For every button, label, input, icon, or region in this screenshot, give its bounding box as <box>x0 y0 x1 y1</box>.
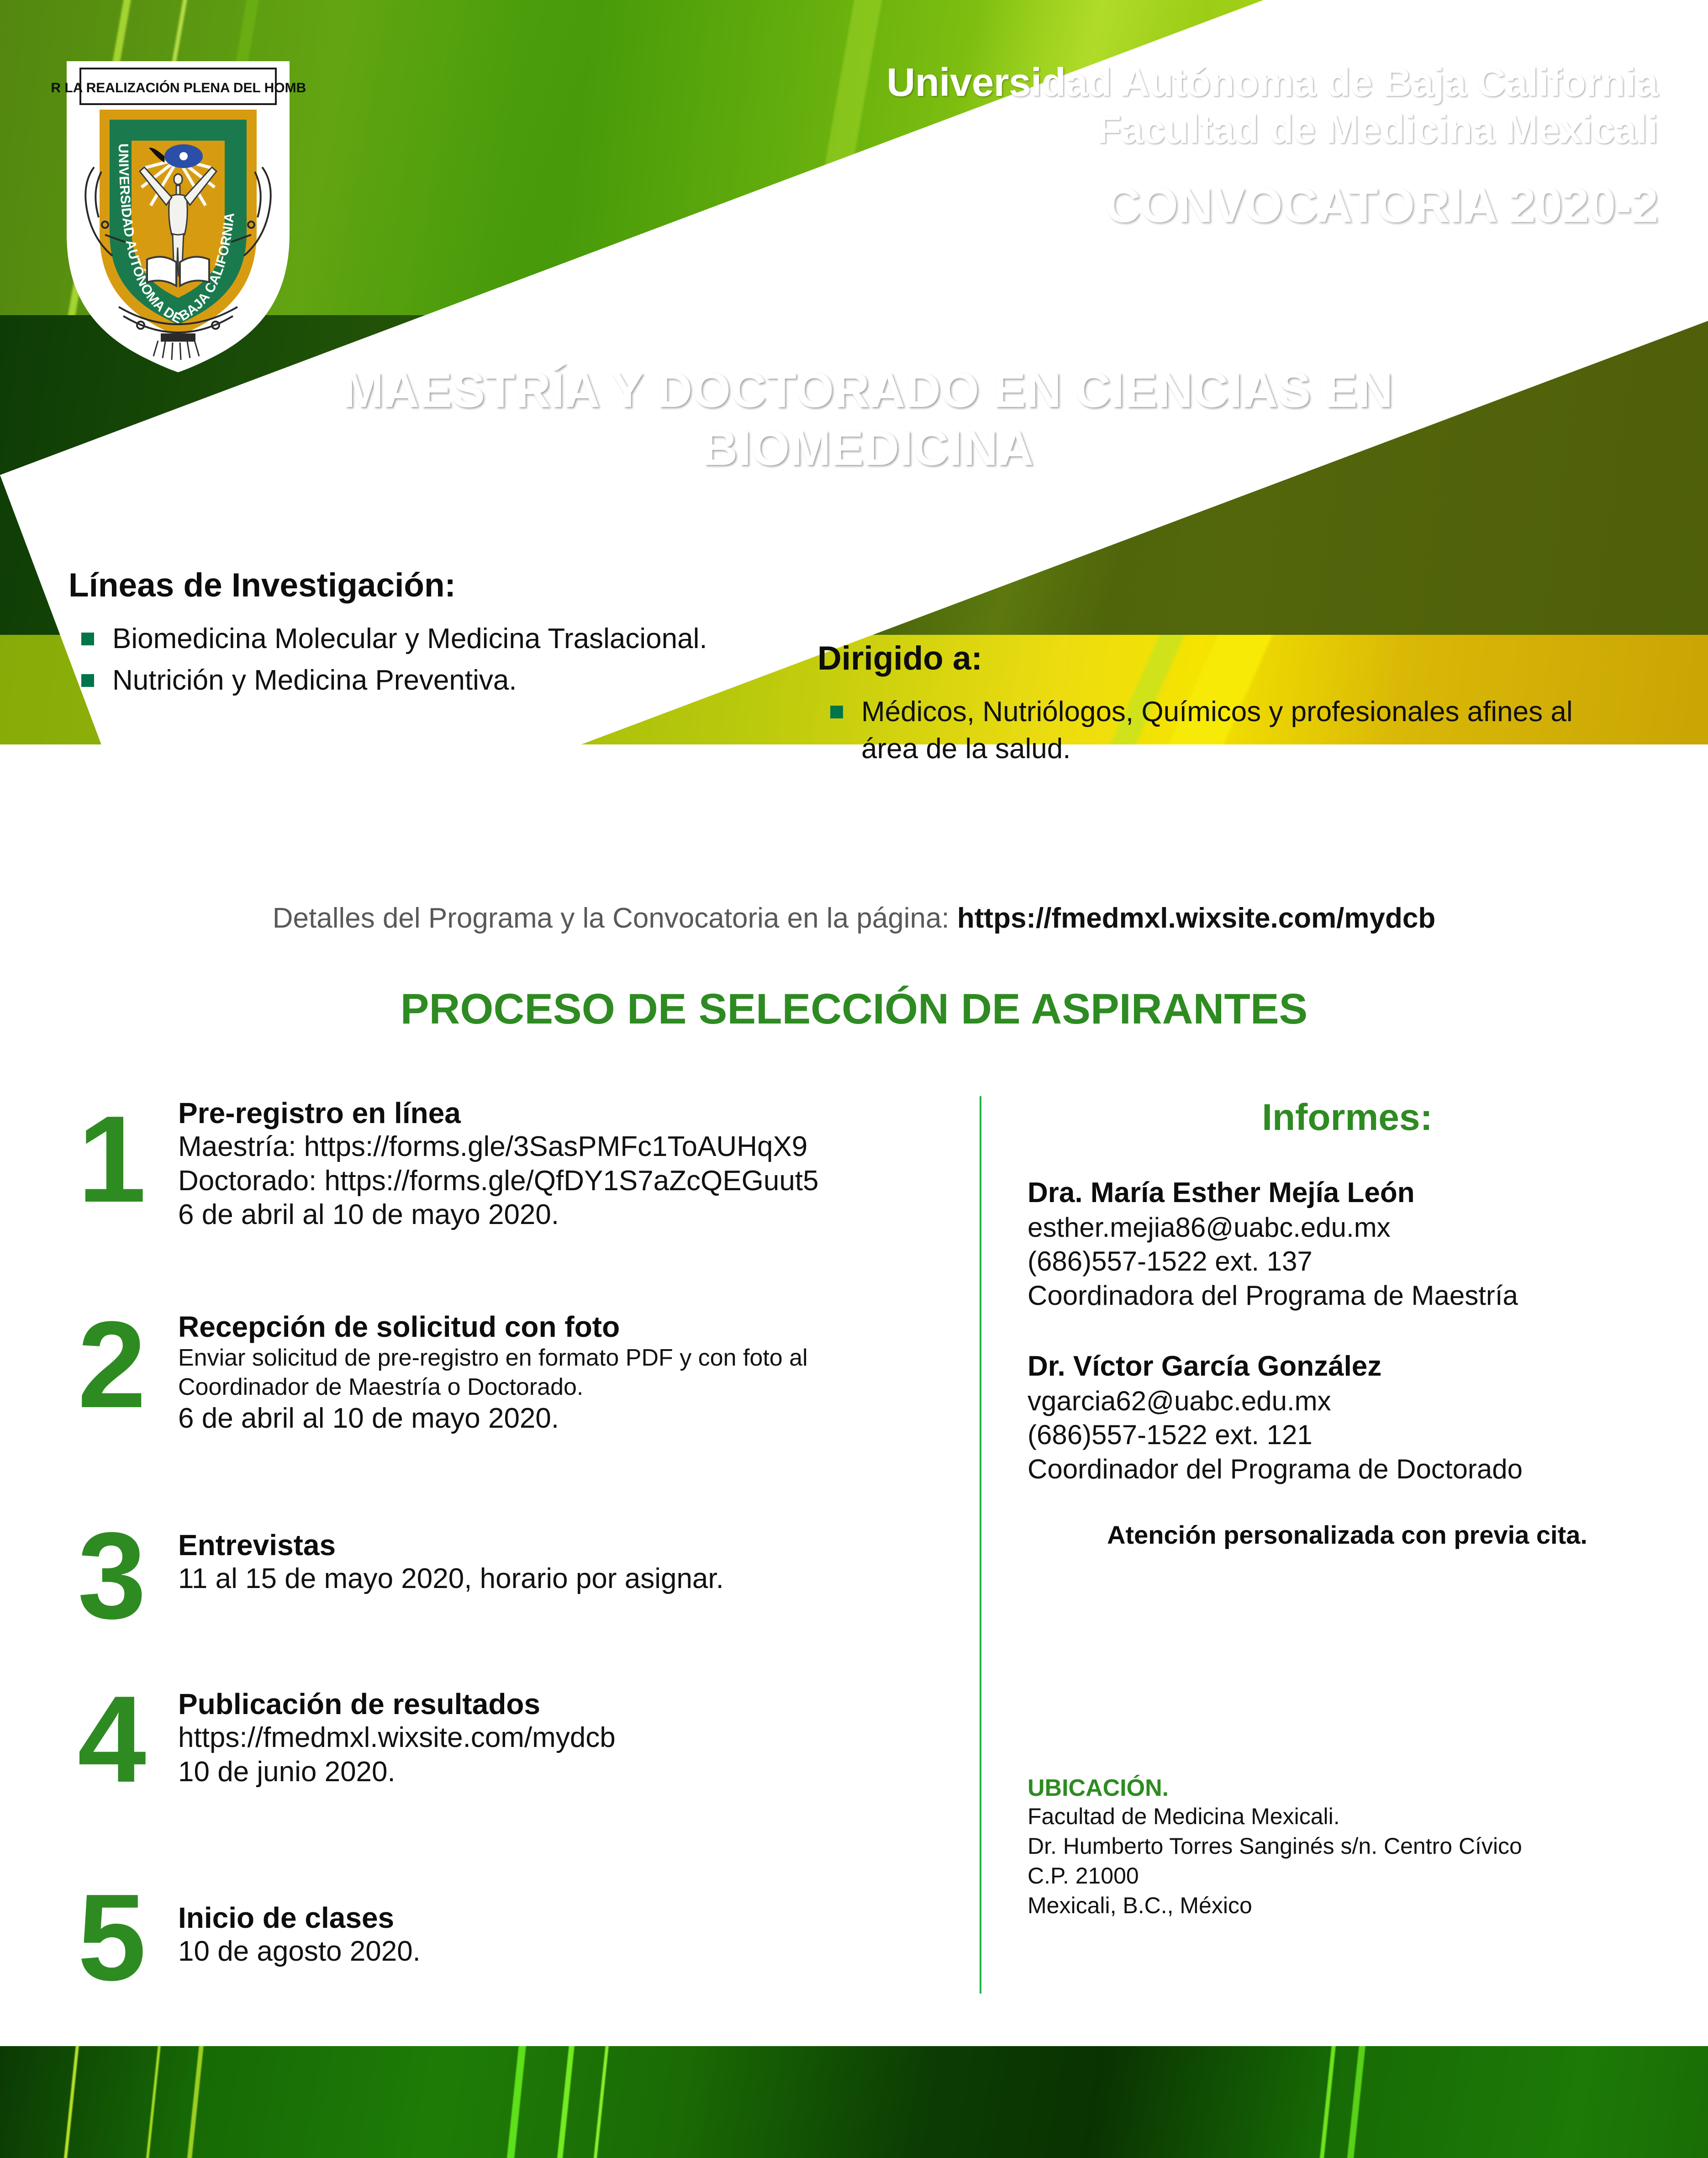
bullet-square-icon <box>81 674 94 687</box>
logo-motto: POR LA REALIZACIÓN PLENA DEL HOMBRE <box>50 80 306 95</box>
contact-card: Dra. María Esther Mejía León esther.meji… <box>1028 1176 1667 1313</box>
contact-email[interactable]: esther.mejia86@uabc.edu.mx <box>1028 1211 1667 1245</box>
step-number: 4 <box>59 1689 164 1790</box>
lineas-heading: Líneas de Investigación: <box>69 566 808 604</box>
decorative-streak <box>1338 2046 1373 2158</box>
decorative-streak <box>497 2046 533 2158</box>
step-line: Doctorado: https://forms.gle/QfDY1S7aZcQ… <box>178 1164 954 1198</box>
step-line: 10 de junio 2020. <box>178 1755 954 1789</box>
bullet-square-icon <box>81 633 94 645</box>
vertical-divider <box>980 1096 981 1994</box>
step-body: Entrevistas 11 al 15 de mayo 2020, horar… <box>178 1528 954 1596</box>
contact-phone: (686)557-1522 ext. 137 <box>1028 1245 1667 1278</box>
step-title: Publicación de resultados <box>178 1687 954 1721</box>
list-item-label: Biomedicina Molecular y Medicina Traslac… <box>112 623 707 654</box>
ubicacion-line: Dr. Humberto Torres Sanginés s/n. Centro… <box>1028 1831 1676 1861</box>
step-number: 1 <box>59 1109 164 1210</box>
program-title: MAESTRÍA Y DOCTORADO EN CIENCIAS EN BIOM… <box>215 361 1521 477</box>
contact-email[interactable]: vgarcia62@uabc.edu.mx <box>1028 1384 1667 1418</box>
ubicacion-heading: UBICACIÓN. <box>1028 1774 1676 1802</box>
faculty-name: Facultad de Medicina Mexicali <box>886 106 1658 153</box>
dirigido-list: Médicos, Nutriólogos, Químicos y profesi… <box>817 694 1603 767</box>
list-item-label: Nutrición y Medicina Preventiva. <box>112 665 517 696</box>
detalles-url[interactable]: https://fmedmxl.wixsite.com/mydcb <box>957 902 1435 934</box>
contact-role: Coordinador del Programa de Doctorado <box>1028 1452 1667 1486</box>
detalles-prefix: Detalles del Programa y la Convocatoria … <box>273 902 957 934</box>
header-text-block: Universidad Autónoma de Baja California … <box>886 59 1658 233</box>
ubicacion-line: C.P. 21000 <box>1028 1861 1676 1891</box>
detalles-programa-line: Detalles del Programa y la Convocatoria … <box>0 902 1708 934</box>
decorative-streak <box>54 2046 86 2158</box>
step-line: Maestría: https://forms.gle/3SasPMFc1ToA… <box>178 1130 954 1164</box>
list-item: Nutrición y Medicina Preventiva. <box>69 662 808 699</box>
convocatoria-label: CONVOCATORIA 2020-2 <box>886 177 1658 233</box>
dirigido-a-section: Dirigido a: Médicos, Nutriólogos, Químic… <box>817 639 1603 772</box>
step-item: 1 Pre-registro en línea Maestría: https:… <box>59 1096 954 1306</box>
footer-band <box>0 2046 1708 2158</box>
step-body: Recepción de solicitud con foto Enviar s… <box>178 1310 954 1436</box>
proceso-seleccion-heading: PROCESO DE SELECCIÓN DE ASPIRANTES <box>0 984 1708 1034</box>
decorative-streak <box>178 2046 211 2158</box>
dirigido-heading: Dirigido a: <box>817 639 1603 677</box>
step-line: 6 de abril al 10 de mayo 2020. <box>178 1402 954 1435</box>
step-item: 4 Publicación de resultados https://fmed… <box>59 1687 954 1897</box>
university-name: Universidad Autónoma de Baja California <box>886 59 1658 106</box>
decorative-streak <box>548 2046 582 2158</box>
list-item: Médicos, Nutriólogos, Químicos y profesi… <box>817 694 1603 767</box>
step-number: 3 <box>59 1525 164 1626</box>
contact-role: Coordinadora del Programa de Maestría <box>1028 1279 1667 1313</box>
step-line: Coordinador de Maestría o Doctorado. <box>178 1373 954 1402</box>
step-body: Publicación de resultados https://fmedmx… <box>178 1687 954 1789</box>
informes-section: Informes: Dra. María Esther Mejía León e… <box>1028 1096 1667 1550</box>
poster-root: POR LA REALIZACIÓN PLENA DEL HOMBRE UNIV… <box>0 0 1708 2158</box>
contact-card: Dr. Víctor García González vgarcia62@uab… <box>1028 1349 1667 1486</box>
contact-phone: (686)557-1522 ext. 121 <box>1028 1418 1667 1452</box>
ubicacion-line: Mexicali, B.C., México <box>1028 1891 1676 1921</box>
uabc-logo: POR LA REALIZACIÓN PLENA DEL HOMBRE UNIV… <box>50 55 306 375</box>
step-number: 5 <box>59 1887 164 1988</box>
decorative-streak <box>137 2046 168 2158</box>
ubicacion-line: Facultad de Medicina Mexicali. <box>1028 1802 1676 1831</box>
lineas-list: Biomedicina Molecular y Medicina Traslac… <box>69 621 808 699</box>
decorative-streak <box>584 2046 616 2158</box>
step-line: 6 de abril al 10 de mayo 2020. <box>178 1198 954 1232</box>
contact-name: Dr. Víctor García González <box>1028 1349 1667 1384</box>
step-title: Inicio de clases <box>178 1901 954 1935</box>
steps-column: 1 Pre-registro en línea Maestría: https:… <box>59 1096 954 2042</box>
contact-name: Dra. María Esther Mejía León <box>1028 1176 1667 1211</box>
step-line[interactable]: https://fmedmxl.wixsite.com/mydcb <box>178 1721 954 1755</box>
list-item-label: Médicos, Nutriólogos, Químicos y profesi… <box>861 696 1573 765</box>
step-item: 2 Recepción de solicitud con foto Enviar… <box>59 1310 954 1525</box>
step-line: 10 de agosto 2020. <box>178 1935 954 1968</box>
step-item: 5 Inicio de clases 10 de agosto 2020. <box>59 1901 954 2038</box>
step-number: 2 <box>59 1314 164 1415</box>
decorative-streak <box>1310 2046 1343 2158</box>
step-line: Enviar solicitud de pre-registro en form… <box>178 1344 954 1372</box>
step-body: Inicio de clases 10 de agosto 2020. <box>178 1901 954 1969</box>
step-title: Entrevistas <box>178 1528 954 1562</box>
step-title: Pre-registro en línea <box>178 1096 954 1130</box>
list-item: Biomedicina Molecular y Medicina Traslac… <box>69 621 808 658</box>
lineas-investigacion-section: Líneas de Investigación: Biomedicina Mol… <box>69 566 808 703</box>
atencion-note: Atención personalizada con previa cita. <box>1028 1520 1667 1550</box>
bullet-square-icon <box>830 706 843 718</box>
ubicacion-section: UBICACIÓN. Facultad de Medicina Mexicali… <box>1028 1774 1676 1921</box>
step-line: 11 al 15 de mayo 2020, horario por asign… <box>178 1562 954 1596</box>
step-body: Pre-registro en línea Maestría: https://… <box>178 1096 954 1232</box>
step-title: Recepción de solicitud con foto <box>178 1310 954 1344</box>
step-item: 3 Entrevistas 11 al 15 de mayo 2020, hor… <box>59 1528 954 1683</box>
informes-heading: Informes: <box>1028 1096 1667 1139</box>
